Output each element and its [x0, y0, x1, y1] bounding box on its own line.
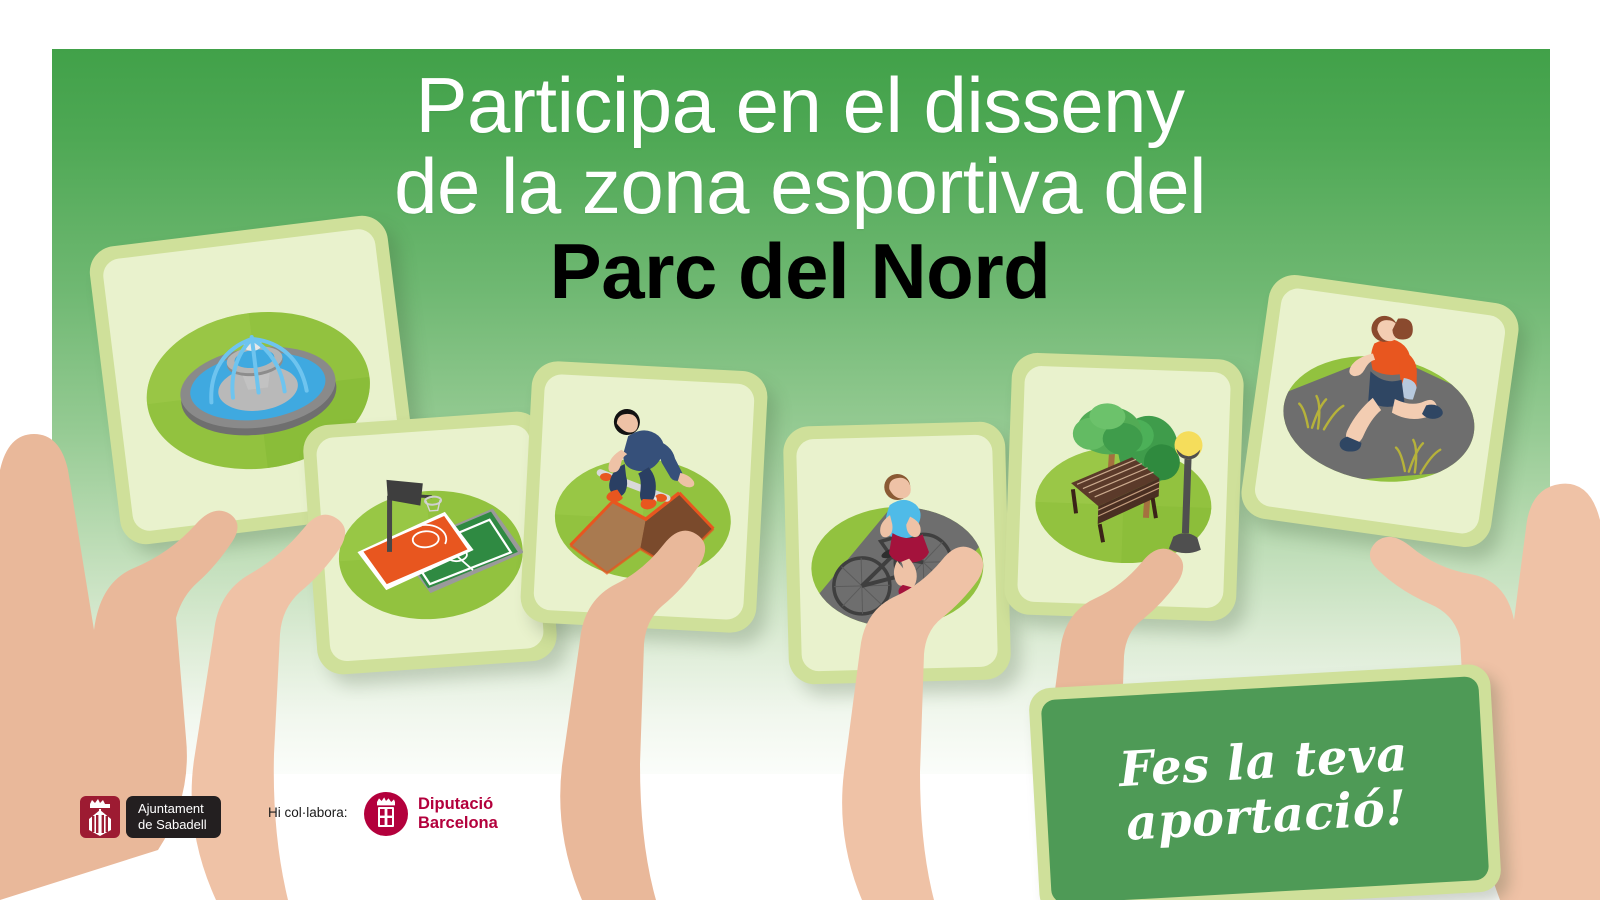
diputacio-line-1: Diputació [418, 795, 498, 814]
diputacio-crest-icon [364, 792, 408, 836]
poster-root: Participa en el disseny de la zona espor… [0, 0, 1600, 900]
diputacio-line-2: Barcelona [418, 814, 498, 833]
sports-courts-icon [315, 424, 544, 662]
sabadell-name: Ajuntament de Sabadell [126, 796, 221, 838]
card-bike[interactable] [783, 421, 1012, 685]
sabadell-line-1: Ajuntament [138, 801, 207, 817]
card-bike-face [796, 434, 998, 671]
sabadell-line-2: de Sabadell [138, 817, 207, 833]
skateboard-ramp-icon [533, 374, 755, 621]
runner-icon [1253, 286, 1507, 535]
card-bench-face [1017, 365, 1231, 608]
park-bench-icon [1017, 365, 1231, 608]
card-bench[interactable] [1003, 352, 1244, 622]
card-runner-face [1253, 286, 1507, 535]
logo-diputacio-barcelona[interactable]: Diputació Barcelona [364, 792, 498, 836]
card-runner[interactable] [1238, 272, 1522, 551]
footer-logos: Ajuntament de Sabadell Hi col·labora: [0, 782, 1600, 900]
collaborate-label: Hi col·labora: [268, 805, 348, 820]
card-skate-face [533, 374, 755, 621]
card-skate[interactable] [519, 360, 768, 634]
cyclist-icon [796, 434, 998, 671]
card-courts-face [315, 424, 544, 662]
diputacio-name: Diputació Barcelona [418, 795, 498, 834]
card-courts[interactable] [302, 410, 559, 676]
logo-ajuntament-sabadell[interactable]: Ajuntament de Sabadell [80, 796, 221, 838]
sabadell-crest-icon [80, 796, 120, 838]
